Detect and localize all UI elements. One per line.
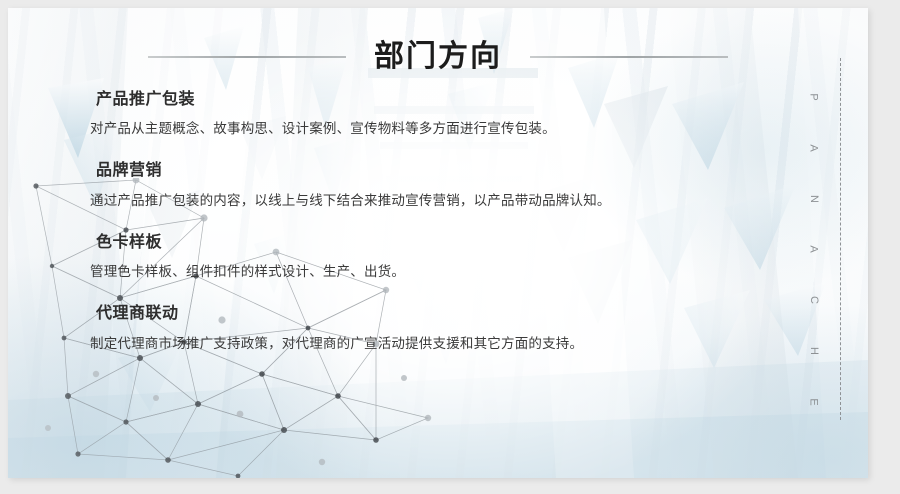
brand-letter: P [808, 93, 819, 101]
section-item: 品牌营销 通过产品推广包装的内容，以线上与线下结合来推动宣传营销，以产品带动品牌… [90, 161, 780, 210]
brand-rail: P A N A C H E [800, 92, 826, 408]
section-body: 制定代理商市场推广支持政策，对代理商的广宣活动提供支援和其它方面的支持。 [90, 334, 780, 354]
slide-canvas: 部门方向 产品推广包装 对产品从主题概念、故事构思、设计案例、宣传物料等多方面进… [8, 8, 868, 478]
section-heading: 代理商联动 [96, 304, 780, 323]
section-list: 产品推广包装 对产品从主题概念、故事构思、设计案例、宣传物料等多方面进行宣传包装… [90, 90, 780, 354]
brand-letter: C [807, 296, 818, 305]
brand-letter: N [807, 195, 818, 204]
section-body: 通过产品推广包装的内容，以线上与线下结合来推动宣传营销，以产品带动品牌认知。 [90, 191, 780, 211]
section-item: 色卡样板 管理色卡样板、组件扣件的样式设计、生产、出货。 [90, 233, 780, 282]
slide-frame: 部门方向 产品推广包装 对产品从主题概念、故事构思、设计案例、宣传物料等多方面进… [0, 0, 900, 494]
brand-letter: A [808, 246, 819, 254]
section-item: 产品推广包装 对产品从主题概念、故事构思、设计案例、宣传物料等多方面进行宣传包装… [90, 90, 780, 139]
title-block: 部门方向 [8, 30, 868, 84]
title-rule-left [148, 56, 346, 58]
brand-dashed-divider [840, 58, 841, 420]
brand-letter: E [808, 398, 819, 406]
page-title: 部门方向 [346, 42, 530, 72]
section-body: 对产品从主题概念、故事构思、设计案例、宣传物料等多方面进行宣传包装。 [90, 119, 780, 139]
brand-letter: A [808, 144, 819, 152]
title-rule-right [530, 56, 728, 58]
section-item: 代理商联动 制定代理商市场推广支持政策，对代理商的广宣活动提供支援和其它方面的支… [90, 304, 780, 353]
section-heading: 品牌营销 [96, 161, 780, 180]
section-heading: 色卡样板 [96, 233, 780, 252]
brand-letter: H [807, 347, 818, 356]
section-body: 管理色卡样板、组件扣件的样式设计、生产、出货。 [90, 262, 780, 282]
section-heading: 产品推广包装 [96, 90, 780, 109]
